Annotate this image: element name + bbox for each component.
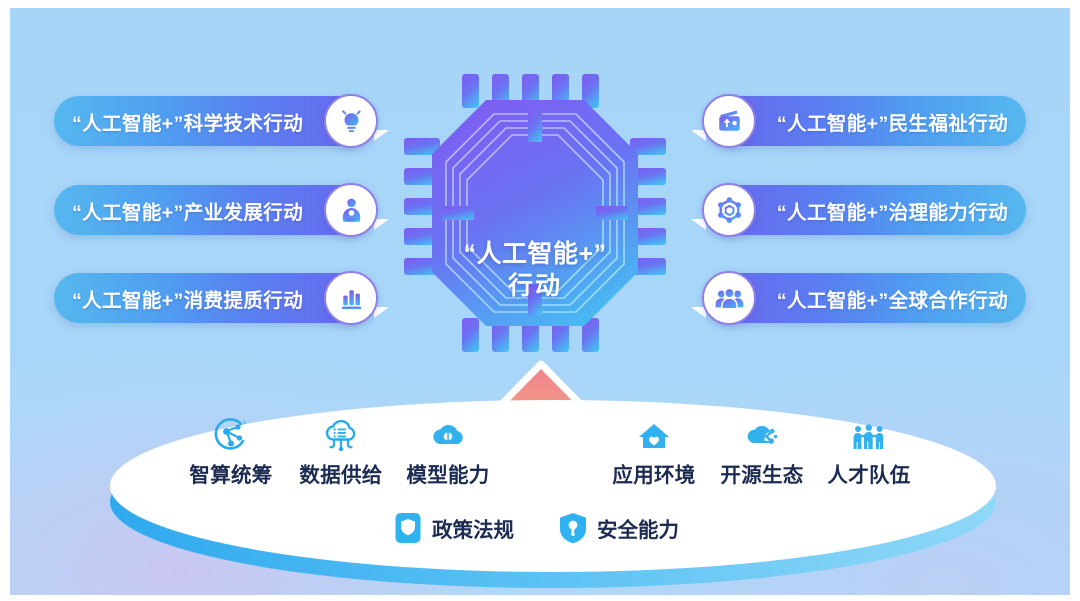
foundation-item-open-source: 开源生态 <box>706 412 818 488</box>
industry-icon <box>324 183 378 237</box>
home-heart-icon <box>598 412 710 458</box>
action-pill-industry-development[interactable]: “人工智能+”产业发展行动 <box>54 185 372 235</box>
action-pill-label: “人工智能+”治理能力行动 <box>777 196 1008 225</box>
action-pill-science-technology[interactable]: “人工智能+”科学技术行动 <box>54 96 372 146</box>
action-pill-label: “人工智能+”科学技术行动 <box>72 107 303 136</box>
people-group-icon <box>702 271 756 325</box>
cloud-brain-icon <box>392 412 504 458</box>
foundation-item-label: 模型能力 <box>406 464 489 487</box>
foundation-item-label: 应用环境 <box>612 464 695 487</box>
foundation-item-talent: 人才队伍 <box>813 412 925 488</box>
action-pill-global-cooperation[interactable]: “人工智能+”全球合作行动 <box>708 273 1026 323</box>
people-talent-icon <box>813 412 925 458</box>
foundation-item-model-capability: 模型能力 <box>392 412 504 488</box>
infographic-canvas: “人工智能+”科学技术行动 “人工智能+”产业发展行动 <box>10 8 1070 595</box>
pill-tail <box>374 219 389 230</box>
cloud-circuit-icon <box>706 412 818 458</box>
lightbulb-icon <box>324 94 378 148</box>
shield-key-icon <box>558 511 588 545</box>
foundation-item-label: 智算统筹 <box>189 464 272 487</box>
foundation-item-label: 开源生态 <box>720 464 803 487</box>
foundation-item-computing: 智算统筹 <box>175 412 287 488</box>
foundation-item-label: 人才队伍 <box>827 464 910 487</box>
action-pill-livelihood-welfare[interactable]: “人工智能+”民生福祉行动 <box>708 96 1026 146</box>
action-pill-label: “人工智能+”全球合作行动 <box>777 284 1008 313</box>
foundation-item-application-env: 应用环境 <box>598 412 710 488</box>
foundation-item-label: 安全能力 <box>597 513 679 543</box>
shield-square-icon <box>393 511 423 545</box>
action-pill-label: “人工智能+”消费提质行动 <box>72 284 303 313</box>
wallet-icon <box>702 94 756 148</box>
pill-tail <box>374 130 389 141</box>
action-pill-label: “人工智能+”产业发展行动 <box>72 196 303 225</box>
hex-network-icon <box>702 183 756 237</box>
network-share-icon <box>175 412 287 458</box>
action-pill-consumption-upgrade[interactable]: “人工智能+”消费提质行动 <box>54 273 372 323</box>
foundation-item-label: 数据供给 <box>299 464 382 487</box>
bar-chart-icon <box>324 271 378 325</box>
foundation-item-label: 政策法规 <box>432 513 514 543</box>
action-pill-label: “人工智能+”民生福祉行动 <box>777 107 1008 136</box>
pill-tail <box>374 307 389 318</box>
foundation-item-policy-regulation: 政策法规 <box>393 511 514 545</box>
cloud-data-icon <box>285 412 397 458</box>
foundation-item-data-supply: 数据供给 <box>285 412 397 488</box>
foundation-item-security-capability: 安全能力 <box>558 511 679 545</box>
cpu-chip-icon: “人工智能+” 行动 <box>402 70 668 356</box>
action-pill-governance-capability[interactable]: “人工智能+”治理能力行动 <box>708 185 1026 235</box>
infographic-stage: “人工智能+”科学技术行动 “人工智能+”产业发展行动 <box>0 0 1080 601</box>
